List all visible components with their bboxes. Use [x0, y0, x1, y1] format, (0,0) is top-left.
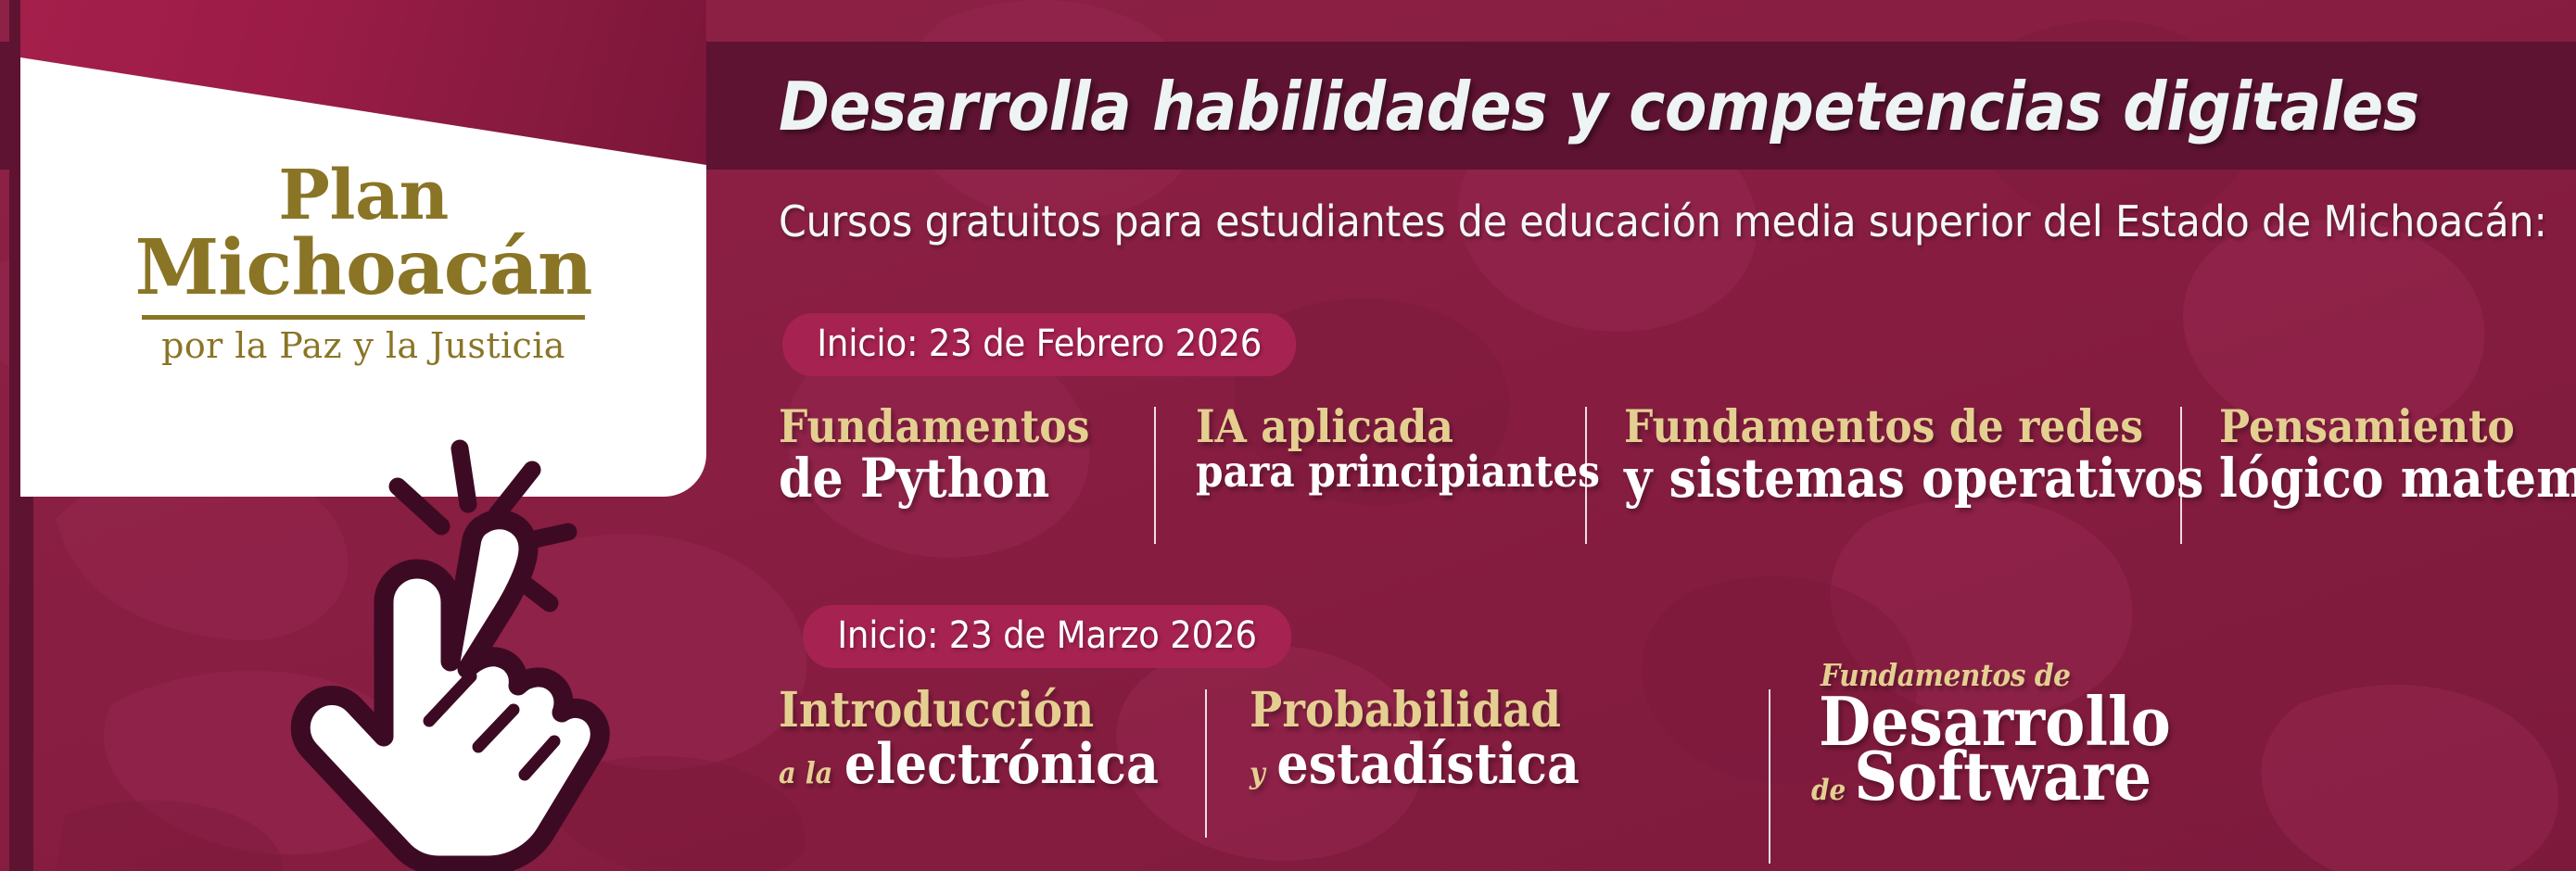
course-item-pensamiento-logico-matematico[interactable]: Pensamiento lógico matemático — [2180, 403, 2576, 506]
course-line-gold: Fundamentos de redes — [1624, 403, 2125, 450]
course-divider — [1154, 407, 1156, 544]
course-line-gold: Fundamentos — [779, 403, 1117, 450]
logo-text: Plan Michoacán por la Paz y la Justicia — [20, 163, 706, 366]
course-main-word: Software — [1854, 737, 2151, 815]
course-prefix-small: de — [1811, 776, 1846, 805]
logo-line-plan: Plan — [20, 163, 706, 230]
course-divider — [2180, 407, 2182, 544]
course-line-gold: Probabilidad — [1250, 686, 1717, 736]
course-row-marzo: Introducción a laelectrónica Probabilida… — [779, 686, 2293, 812]
course-divider — [1585, 407, 1587, 544]
course-line-white: a laelectrónica — [779, 736, 1162, 793]
course-item-probabilidad-y-estadistica[interactable]: Probabilidad yestadística — [1205, 686, 1769, 793]
logo-tagline: por la Paz y la Justicia — [20, 325, 706, 366]
course-line-white: yestadística — [1250, 736, 1717, 793]
course-line-gold: Pensamiento — [2219, 403, 2576, 450]
course-line-software: deSoftware — [1811, 742, 2245, 812]
course-prefix-small: y — [1250, 758, 1265, 789]
course-line-white: lógico matemático — [2219, 450, 2576, 506]
course-item-ia-aplicada-para-principiantes[interactable]: IA aplicada para principiantes — [1154, 403, 1585, 496]
course-line-white: de Python — [779, 450, 1117, 506]
page-title: Desarrolla habilidades y competencias di… — [779, 56, 2419, 158]
start-date-badge-marzo: Inicio: 23 de Marzo 2026 — [803, 605, 1291, 668]
course-item-fundamentos-de-python[interactable]: Fundamentos de Python — [779, 403, 1154, 506]
logo-line-michoacan: Michoacán — [20, 230, 706, 306]
course-divider — [1205, 689, 1207, 838]
page-subtitle: Cursos gratuitos para estudiantes de edu… — [779, 196, 2547, 246]
course-line-white: y sistemas operativos — [1624, 450, 2125, 506]
course-item-introduccion-a-la-electronica[interactable]: Introducción a laelectrónica — [779, 686, 1205, 793]
logo-divider-rule — [142, 315, 585, 320]
course-line-gold: Introducción — [779, 686, 1162, 736]
course-item-fundamentos-de-redes-y-sistemas-operativos[interactable]: Fundamentos de redes y sistemas operativ… — [1585, 403, 2180, 506]
course-prefix-small: a la — [779, 758, 832, 789]
banner-content: Desarrolla habilidades y competencias di… — [779, 0, 2576, 871]
pointing-hand-click-icon — [267, 415, 638, 871]
course-row-febrero: Fundamentos de Python IA aplicada para p… — [779, 403, 2576, 506]
course-divider — [1769, 689, 1770, 864]
course-line-white: para principiantes — [1196, 450, 1546, 496]
course-line-gold: IA aplicada — [1196, 403, 1546, 450]
course-main-word: estadística — [1276, 732, 1580, 797]
course-item-fundamentos-de-desarrollo-de-software[interactable]: Fundamentos de Desarrollo deSoftware — [1769, 660, 2293, 812]
promo-banner: Plan Michoacán por la Paz y la Justicia … — [0, 0, 2576, 871]
start-date-badge-febrero: Inicio: 23 de Febrero 2026 — [782, 313, 1296, 376]
course-main-word: electrónica — [844, 732, 1159, 797]
